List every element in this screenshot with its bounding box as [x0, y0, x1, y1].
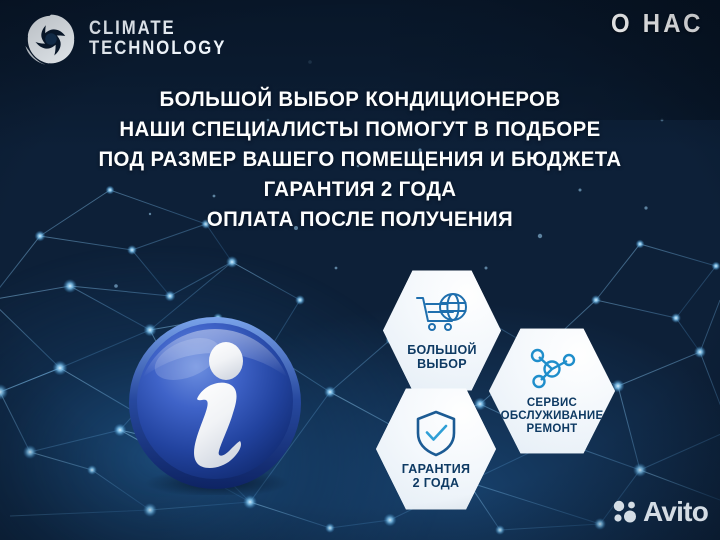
avito-dots-icon — [612, 500, 638, 524]
avito-wordmark: Avito — [643, 496, 708, 528]
promo-banner: CLIMATE TECHNOLOGY О НАС БОЛЬШОЙ ВЫБОР К… — [0, 0, 720, 540]
avito-watermark: Avito — [612, 496, 708, 528]
vignette-overlay — [0, 0, 720, 540]
